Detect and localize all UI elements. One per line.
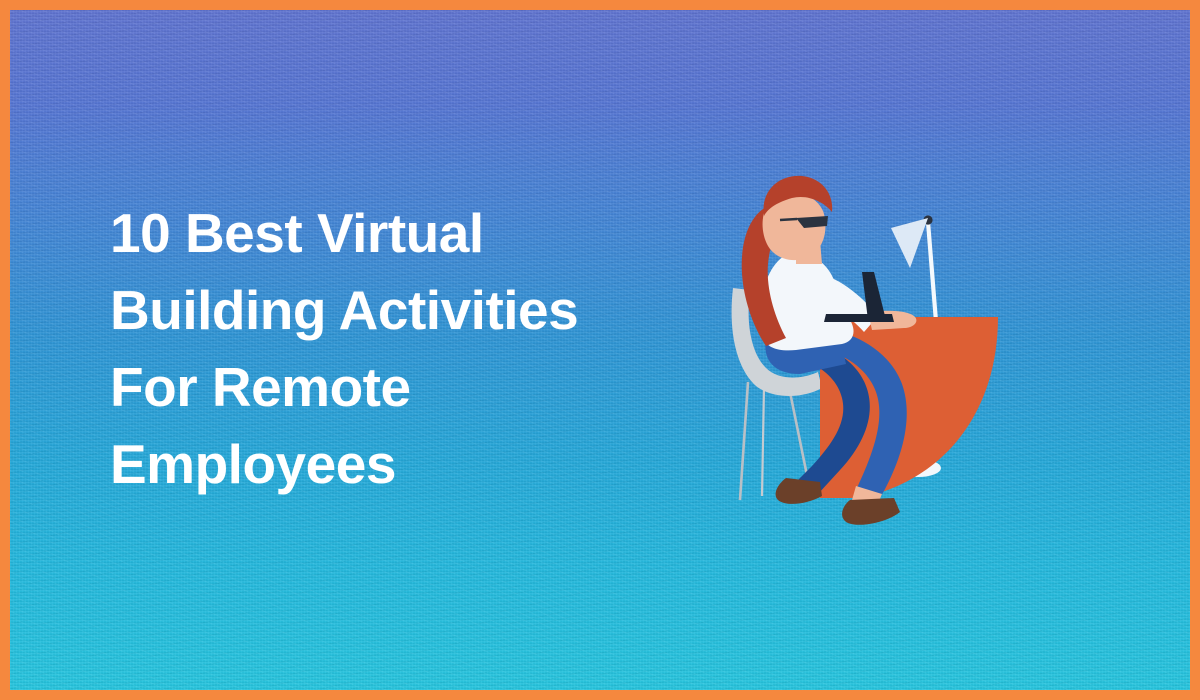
- hero-illustration: [700, 160, 1040, 530]
- back-shoe: [776, 478, 822, 504]
- title-line-2: Building Activities: [110, 272, 670, 349]
- page-title: 10 Best Virtual Building Activities For …: [110, 195, 670, 503]
- title-line-1: 10 Best Virtual: [110, 195, 670, 272]
- banner-canvas: 10 Best Virtual Building Activities For …: [10, 10, 1190, 690]
- banner-card: 10 Best Virtual Building Activities For …: [0, 0, 1200, 700]
- woman-at-desk-illustration: [700, 160, 1040, 530]
- title-line-3: For Remote: [110, 349, 670, 426]
- front-shoe: [842, 498, 900, 525]
- title-line-4: Employees: [110, 426, 670, 503]
